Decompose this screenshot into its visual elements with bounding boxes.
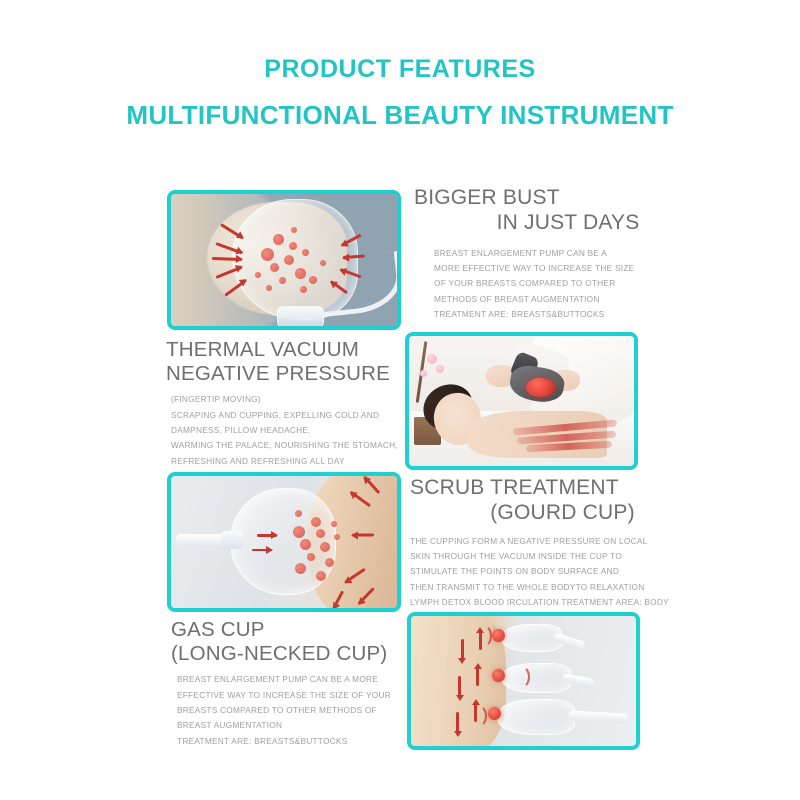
- feature-body-line: STIMULATE THE POINTS ON BODY SURFACE AND: [410, 564, 685, 579]
- product-feature-page: PRODUCT FEATURES MULTIFUNCTIONAL BEAUTY …: [0, 0, 800, 800]
- tissue-dot: [325, 558, 334, 567]
- feature-body-line: TREATMENT ARE: BREASTS&BUTTOCKS: [177, 734, 413, 749]
- flow-arrow-up: [479, 632, 482, 650]
- spa-treatment-photo: [409, 336, 634, 466]
- tissue-dot: [316, 529, 325, 538]
- pump-cup-illustration: [171, 194, 397, 326]
- feature-body-line: WARMING THE PALACE, NOURISHING THE STOMA…: [171, 438, 406, 453]
- feature-body: BREAST ENLARGEMENT PUMP CAN BE A MORE EF…: [163, 672, 413, 749]
- decor-blossom: [436, 365, 444, 373]
- feature-heading: GAS CUP (LONG-NECKED CUP): [163, 618, 413, 666]
- feature-heading-line1: SCRUB TREATMENT: [410, 476, 619, 499]
- feature-image-gas-cup: [407, 612, 640, 750]
- tissue-dot: [291, 227, 297, 233]
- feature-heading: BIGGER BUST IN JUST DAYS: [414, 186, 684, 236]
- tissue-dot: [289, 242, 297, 250]
- decor-blossom: [420, 370, 427, 377]
- feature-heading-line1: BIGGER BUST: [414, 186, 560, 209]
- feature-text-scrub-treatment: SCRUB TREATMENT (GOURD CUP) THE CUPPING …: [410, 476, 685, 610]
- suction-arrow: [252, 549, 272, 552]
- feature-heading-line2: NEGATIVE PRESSURE: [166, 362, 406, 386]
- device-red-head: [526, 378, 555, 398]
- feature-body-line: THE CUPPING FORM A NEGATIVE PRESSURE ON …: [410, 534, 685, 549]
- flow-arrow-down: [456, 712, 459, 732]
- feature-body-line: SCRAPING AND CUPPING, EXPELLING COLD AND: [171, 408, 406, 423]
- feature-heading-line2: (LONG-NECKED CUP): [171, 642, 413, 666]
- feature-body: (FINGERTIP MOVING) SCRAPING AND CUPPING,…: [166, 392, 406, 469]
- feature-body-line: (FINGERTIP MOVING): [171, 392, 406, 407]
- feature-body-line: OF YOUR BREASTS COMPARED TO OTHER: [434, 276, 684, 291]
- feature-body-line: TREATMENT ARE: BREASTS&BUTTOCKS: [434, 307, 684, 322]
- tissue-dot: [273, 234, 284, 245]
- feature-heading-line2: (GOURD CUP): [410, 501, 685, 526]
- feature-body-line: METHODS OF BREAST AUGMENTATION: [434, 292, 684, 307]
- feature-body-line: SKIN THROUGH THE VACUUM INSIDE THE CUP T…: [410, 549, 685, 564]
- feature-heading-line1: GAS CUP: [171, 618, 265, 641]
- suction-point: [488, 707, 501, 720]
- feature-heading-line1: THERMAL VACUUM: [166, 338, 359, 361]
- page-subtitle: MULTIFUNCTIONAL BEAUTY INSTRUMENT: [0, 102, 800, 128]
- long-necked-cup: [497, 699, 576, 735]
- flow-arrow-down: [461, 639, 464, 659]
- feature-body: BREAST ENLARGEMENT PUMP CAN BE A MORE EF…: [414, 246, 684, 323]
- tissue-dot: [307, 553, 315, 561]
- feature-body-line: BREAST ENLARGEMENT PUMP CAN BE A MORE: [177, 672, 413, 687]
- feature-text-gas-cup: GAS CUP (LONG-NECKED CUP) BREAST ENLARGE…: [163, 618, 413, 749]
- tissue-dot: [266, 285, 272, 291]
- feature-image-thermal-vacuum: [405, 332, 638, 470]
- feature-heading-line2: IN JUST DAYS: [414, 211, 684, 236]
- tissue-dot: [316, 571, 326, 581]
- long-necked-cups-illustration: [411, 616, 636, 746]
- tissue-dot: [255, 272, 261, 278]
- tissue-dot: [284, 255, 294, 265]
- feature-text-bigger-bust: BIGGER BUST IN JUST DAYS BREAST ENLARGEM…: [414, 186, 684, 322]
- flow-arrow-up: [476, 668, 479, 686]
- feature-body-line: EFFECTIVE WAY TO INCREASE THE SIZE OF YO…: [177, 688, 413, 703]
- suction-arrow: [257, 534, 277, 537]
- feature-body-line: BREAST ENLARGEMENT PUMP CAN BE A: [434, 246, 684, 261]
- flow-arrow-down: [458, 676, 461, 696]
- feature-heading: SCRUB TREATMENT (GOURD CUP): [410, 476, 685, 526]
- page-title: PRODUCT FEATURES: [0, 57, 800, 82]
- feature-image-bigger-bust: [167, 190, 401, 330]
- cup-base: [277, 306, 324, 326]
- feature-body: THE CUPPING FORM A NEGATIVE PRESSURE ON …: [410, 534, 685, 611]
- gourd-cup-illustration: [171, 476, 397, 608]
- feature-body-line: DAMPNESS, PILLOW HEADACHE.: [171, 423, 406, 438]
- feature-body-line: REFRESHING AND REFRESHING ALL DAY: [171, 454, 406, 469]
- feature-body-line: THEN TRANSMIT TO THE WHOLE BODYTO RELAXA…: [410, 580, 685, 595]
- cup-neck: [221, 531, 244, 548]
- feature-text-thermal-vacuum: THERMAL VACUUM NEGATIVE PRESSURE (FINGER…: [166, 338, 406, 469]
- suction-arrow: [352, 534, 374, 537]
- feature-body-line: BREASTS COMPARED TO OTHER METHODS OF: [177, 703, 413, 718]
- flow-arrow-up: [474, 704, 477, 722]
- feature-body-line: LYMPH DETOX BLOOD IRCULATION TREATMENT A…: [410, 595, 685, 610]
- suction-point: [492, 629, 505, 642]
- tissue-dot: [309, 276, 317, 284]
- feature-heading: THERMAL VACUUM NEGATIVE PRESSURE: [166, 338, 406, 386]
- feature-body-line: MORE EFFECTIVE WAY TO INCREASE THE SIZE: [434, 261, 684, 276]
- feature-body-line: BREAST AUGMENTATION: [177, 718, 413, 733]
- tissue-dot: [311, 517, 321, 527]
- feature-image-scrub-treatment: [167, 472, 401, 612]
- tissue-dot: [334, 534, 340, 540]
